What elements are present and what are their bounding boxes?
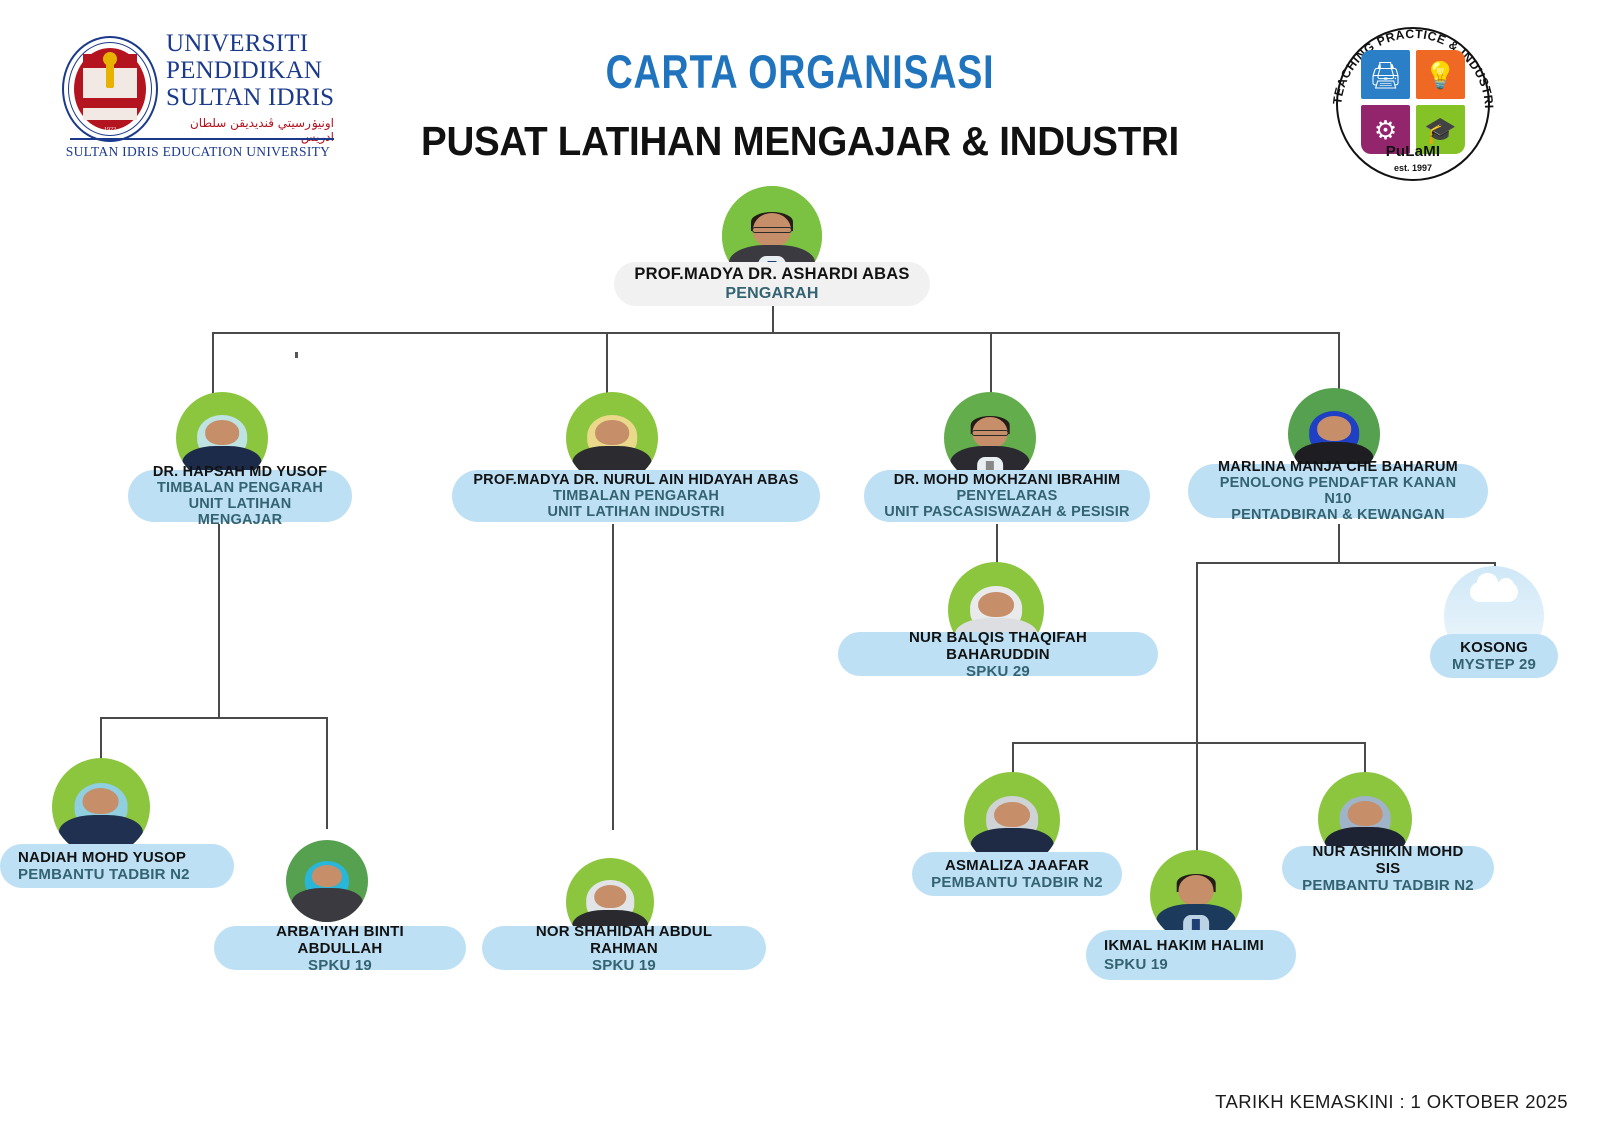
- person-name: PROF.MADYA DR. NURUL AIN HIDAYAH ABAS: [473, 472, 798, 488]
- person-name: NOR SHAHIDAH ABDUL RAHMAN: [500, 923, 748, 957]
- node-label[interactable]: KOSONG MYSTEP 29: [1430, 634, 1558, 678]
- connector-nurulain-to-shahidah: [612, 524, 614, 830]
- connector-to-hapsah: [212, 332, 214, 394]
- upsi-crest-icon: 1922: [62, 36, 158, 142]
- node-label[interactable]: IKMAL HAKIM HALIMI SPKU 19: [1086, 930, 1296, 980]
- person-role-1: UNIT LATIHAN MENGAJAR: [146, 496, 334, 528]
- lightbulb-icon: 💡: [1416, 50, 1465, 99]
- person-role-0: TIMBALAN PENGARAH: [553, 488, 719, 504]
- person-role-1: UNIT PASCASISWAZAH & PESISIR: [884, 504, 1129, 520]
- upsi-logo: 1922 UNIVERSITI PENDIDIKAN SULTAN IDRIS …: [62, 28, 332, 168]
- person-role-0: SPKU 19: [308, 957, 372, 974]
- connector-hapsah-bus: [100, 717, 328, 719]
- person-role-0: PEMBANTU TADBIR N2: [931, 874, 1103, 891]
- node-label[interactable]: PROF.MADYA DR. ASHARDI ABAS PENGARAH: [614, 262, 930, 306]
- person-role-0: PENYELARAS: [956, 488, 1057, 504]
- upsi-crest-year: 1922: [64, 127, 156, 133]
- person-name: ARBA'IYAH BINTI ABDULLAH: [232, 923, 448, 957]
- person-role-0: SPKU 19: [1104, 955, 1168, 974]
- connector-level1-bus: [212, 332, 1340, 334]
- page-title: CARTA ORGANISASI: [432, 46, 1168, 98]
- person-role-0: PENOLONG PENDAFTAR KANAN N10: [1206, 475, 1470, 507]
- person-name: NADIAH MOHD YUSOP: [18, 849, 186, 866]
- pulami-name: PuLaMI: [1327, 143, 1499, 160]
- person-role-0: MYSTEP 29: [1452, 656, 1536, 673]
- avatar: [1150, 850, 1242, 942]
- person-role-0: PEMBANTU TADBIR N2: [18, 866, 190, 883]
- node-label[interactable]: NOR SHAHIDAH ABDUL RAHMAN SPKU 19: [482, 926, 766, 970]
- avatar: [52, 758, 150, 856]
- pulami-quadrants: 🖨 💡 ⚙ 🎓: [1361, 50, 1465, 154]
- node-label[interactable]: PROF.MADYA DR. NURUL AIN HIDAYAH ABAS TI…: [452, 470, 820, 522]
- connector-to-mokhzani: [990, 332, 992, 394]
- node-label[interactable]: MARLINA MANJA CHE BAHARUM PENOLONG PENDA…: [1188, 464, 1488, 518]
- person-role-1: PENTADBIRAN & KEWANGAN: [1231, 507, 1445, 523]
- person-name: ASMALIZA JAAFAR: [945, 857, 1089, 874]
- person-name: DR. HAPSAH MD YUSOF: [153, 464, 327, 480]
- person-name: IKMAL HAKIM HALIMI: [1104, 936, 1264, 955]
- upsi-wordmark: UNIVERSITI PENDIDIKAN SULTAN IDRIS: [166, 30, 334, 111]
- connector-marlina-down: [1196, 562, 1198, 744]
- connector-to-ikmal: [1196, 742, 1198, 852]
- person-name: NUR ASHIKIN MOHD SIS: [1300, 843, 1476, 877]
- person-role-0: TIMBALAN PENGARAH: [157, 480, 323, 496]
- org-chart-page: 1922 UNIVERSITI PENDIDIKAN SULTAN IDRIS …: [0, 0, 1600, 1131]
- connector-mokhzani-to-balqis: [996, 524, 998, 564]
- pulami-est: est. 1997: [1327, 163, 1499, 173]
- person-name: MARLINA MANJA CHE BAHARUM: [1218, 459, 1458, 475]
- node-label[interactable]: NUR BALQIS THAQIFAH BAHARUDDIN SPKU 29: [838, 632, 1158, 676]
- page-subtitle: PUSAT LATIHAN MENGAJAR & INDUSTRI: [330, 118, 1270, 165]
- connector-to-arbaiyah: [326, 717, 328, 829]
- connector-hapsah-stem: [218, 524, 220, 718]
- person-role-1: UNIT LATIHAN INDUSTRI: [547, 504, 724, 520]
- node-label[interactable]: NADIAH MOHD YUSOP PEMBANTU TADBIR N2: [0, 844, 234, 888]
- person-role-0: SPKU 29: [966, 663, 1030, 680]
- connector-marlina-stem: [1338, 524, 1340, 562]
- person-name: NUR BALQIS THAQIFAH BAHARUDDIN: [856, 629, 1140, 663]
- connector-to-nurulain: [606, 332, 608, 394]
- last-updated-label: TARIKH KEMASKINI : 1 OKTOBER 2025: [1215, 1091, 1568, 1113]
- connector-admin-bus: [1012, 742, 1364, 744]
- node-label[interactable]: DR. HAPSAH MD YUSOF TIMBALAN PENGARAH UN…: [128, 470, 352, 522]
- connector-root-stem: [772, 306, 774, 334]
- person-role-0: PENGARAH: [725, 284, 818, 303]
- connector-to-marlina: [1338, 332, 1340, 390]
- person-role-0: SPKU 19: [592, 957, 656, 974]
- node-label[interactable]: NUR ASHIKIN MOHD SIS PEMBANTU TADBIR N2: [1282, 846, 1494, 890]
- person-name: PROF.MADYA DR. ASHARDI ABAS: [634, 265, 909, 284]
- upsi-word-line3: SULTAN IDRIS: [166, 84, 334, 111]
- connector-marlina-bus: [1196, 562, 1496, 564]
- pulami-logo: CENTRE FOR TEACHING PRACTICE & INDUSTRIA…: [1327, 18, 1499, 190]
- upsi-divider: [70, 138, 334, 140]
- node-label[interactable]: ARBA'IYAH BINTI ABDULLAH SPKU 19: [214, 926, 466, 970]
- stray-dot-artifact: [295, 352, 298, 358]
- node-label[interactable]: DR. MOHD MOKHZANI IBRAHIM PENYELARAS UNI…: [864, 470, 1150, 522]
- printer-icon: 🖨: [1361, 50, 1410, 99]
- person-name: KOSONG: [1460, 639, 1528, 656]
- connector-to-nadiah: [100, 717, 102, 761]
- node-label[interactable]: ASMALIZA JAAFAR PEMBANTU TADBIR N2: [912, 852, 1122, 896]
- upsi-subtitle: SULTAN IDRIS EDUCATION UNIVERSITY: [62, 144, 334, 160]
- upsi-word-line1: UNIVERSITI: [166, 30, 334, 57]
- person-role-0: PEMBANTU TADBIR N2: [1302, 877, 1474, 894]
- upsi-word-line2: PENDIDIKAN: [166, 57, 334, 84]
- person-name: DR. MOHD MOKHZANI IBRAHIM: [894, 472, 1121, 488]
- avatar: [286, 840, 368, 922]
